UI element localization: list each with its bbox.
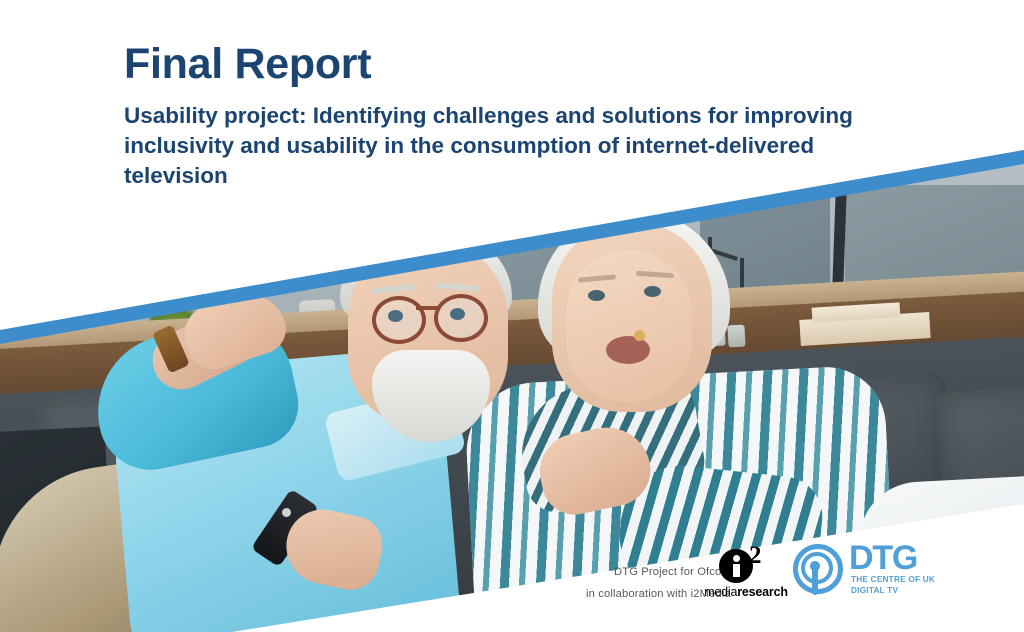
dtg-wordmark: DTG bbox=[849, 541, 917, 575]
i2media-word-media: media bbox=[704, 585, 737, 599]
dtg-tagline: THE CENTRE OF UK DIGITAL TV bbox=[851, 575, 935, 596]
man-eye-left bbox=[388, 310, 403, 322]
i2media-research-logo: 2 mediaresearch bbox=[703, 543, 789, 599]
dtg-logo: DTG THE CENTRE OF UK DIGITAL TV bbox=[793, 541, 943, 597]
i2media-word-research: research bbox=[737, 585, 788, 599]
i2media-i-dot-icon bbox=[733, 555, 740, 562]
page-title: Final Report bbox=[124, 42, 924, 87]
dtg-tagline-line-2: DIGITAL TV bbox=[851, 586, 935, 597]
dtg-tagline-line-1: THE CENTRE OF UK bbox=[851, 575, 935, 586]
page-subtitle: Usability project: Identifying challenge… bbox=[124, 101, 894, 190]
dtg-signal-icon bbox=[793, 544, 843, 594]
dtg-stem-icon bbox=[812, 568, 818, 595]
report-cover-page: Final Report Usability project: Identify… bbox=[0, 0, 1024, 632]
woman-eye-left bbox=[588, 290, 605, 301]
jar-decor-2 bbox=[727, 325, 745, 348]
eyeglasses-bridge bbox=[416, 306, 438, 310]
title-block: Final Report Usability project: Identify… bbox=[124, 42, 924, 190]
man-eye-right bbox=[450, 308, 465, 320]
i2media-wordmark: mediaresearch bbox=[703, 585, 789, 599]
earring bbox=[634, 330, 645, 341]
woman-eye-right bbox=[644, 286, 661, 297]
i2media-i-stem-icon bbox=[733, 564, 740, 577]
i2media-mark-icon: 2 bbox=[719, 543, 773, 583]
i2media-exponent: 2 bbox=[749, 543, 762, 568]
woman-mouth bbox=[606, 336, 650, 364]
